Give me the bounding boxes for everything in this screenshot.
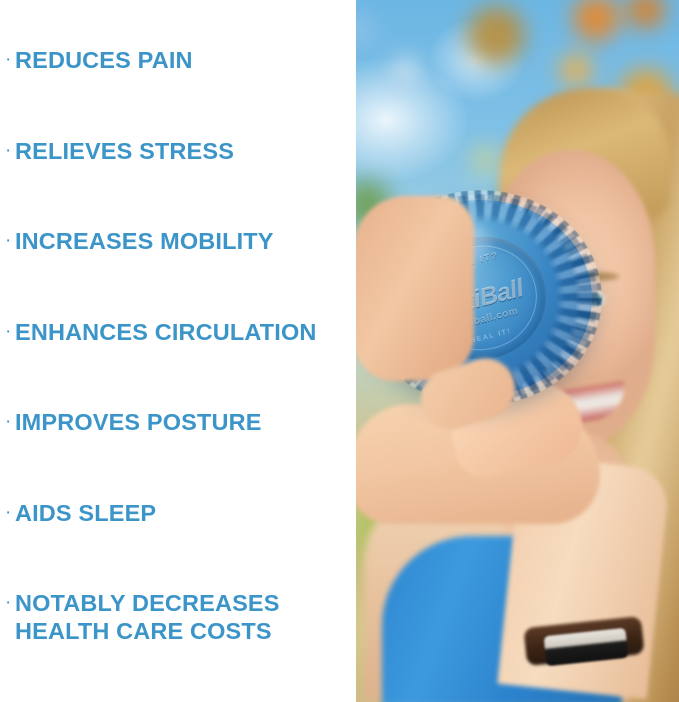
benefits-panel: · REDUCES PAIN · RELIEVES STRESS · INCRE… <box>0 0 356 702</box>
benefit-label: INCREASES MOBILITY <box>15 227 356 255</box>
bullet-icon: · <box>2 318 15 346</box>
bullet-icon: · <box>2 46 15 74</box>
benefit-item: · AIDS SLEEP <box>0 499 356 590</box>
benefit-item: · NOTABLY DECREASES HEALTH CARE COSTS <box>0 589 356 680</box>
benefit-item: · INCREASES MOBILITY <box>0 227 356 318</box>
benefit-label: AIDS SLEEP <box>15 499 356 527</box>
benefit-label: ENHANCES CIRCULATION <box>15 318 356 346</box>
benefit-item: · REDUCES PAIN <box>0 46 356 137</box>
benefit-item: · RELIEVES STRESS <box>0 137 356 228</box>
benefit-item: · IMPROVES POSTURE <box>0 408 356 499</box>
benefit-label: RELIEVES STRESS <box>15 137 356 165</box>
bullet-icon: · <box>2 227 15 255</box>
benefit-label: REDUCES PAIN <box>15 46 356 74</box>
benefit-label: NOTABLY DECREASES HEALTH CARE COSTS <box>15 589 356 645</box>
upper-hand <box>356 196 474 381</box>
bullet-icon: · <box>2 137 15 165</box>
product-lifestyle-photo: FEEL IT? actiBall actiball.com HEAL IT! <box>356 0 679 702</box>
bullet-icon: · <box>2 408 15 436</box>
benefit-label: IMPROVES POSTURE <box>15 408 356 436</box>
bullet-icon: · <box>2 589 15 617</box>
advertisement-page: · REDUCES PAIN · RELIEVES STRESS · INCRE… <box>0 0 679 702</box>
bullet-icon: · <box>2 499 15 527</box>
benefit-item: · ENHANCES CIRCULATION <box>0 318 356 409</box>
